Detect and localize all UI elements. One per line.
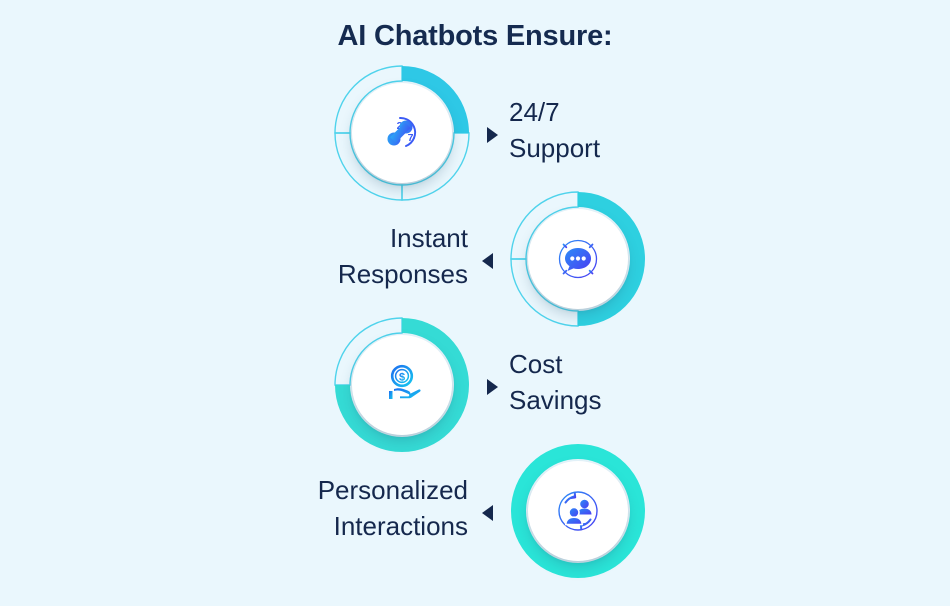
icon-badge-3: $ [352, 335, 452, 435]
icon-badge-4 [528, 461, 628, 561]
infographic-canvas: AI Chatbots Ensure: [0, 0, 950, 606]
phone-24-7-icon: 24 7 [376, 107, 428, 159]
svg-text:7: 7 [408, 132, 414, 144]
feature-ring-4[interactable] [507, 440, 649, 582]
icon-badge-1: 24 7 [352, 83, 452, 183]
icon-badge-2 [528, 209, 628, 309]
users-refresh-icon [552, 485, 604, 537]
feature-row-4: Personalized Interactions [0, 440, 950, 590]
feature-label-2: Instant Responses [170, 220, 468, 292]
page-title: AI Chatbots Ensure: [0, 20, 950, 53]
feature-ring-3[interactable]: $ [331, 314, 473, 456]
feature-ring-2[interactable] [507, 188, 649, 330]
hand-coin-dollar-icon: $ [376, 359, 428, 411]
feature-label-4: Personalized Interactions [170, 472, 468, 544]
chat-bubble-dots-icon [552, 233, 604, 285]
triangle-left-icon-4 [482, 505, 493, 521]
feature-label-1: 24/7 Support [509, 94, 809, 166]
triangle-right-icon-3 [487, 379, 498, 395]
svg-text:$: $ [399, 371, 405, 383]
triangle-right-icon-1 [487, 127, 498, 143]
feature-label-3: Cost Savings [509, 346, 809, 418]
feature-ring-1[interactable]: 24 7 [331, 62, 473, 204]
triangle-left-icon-2 [482, 253, 493, 269]
